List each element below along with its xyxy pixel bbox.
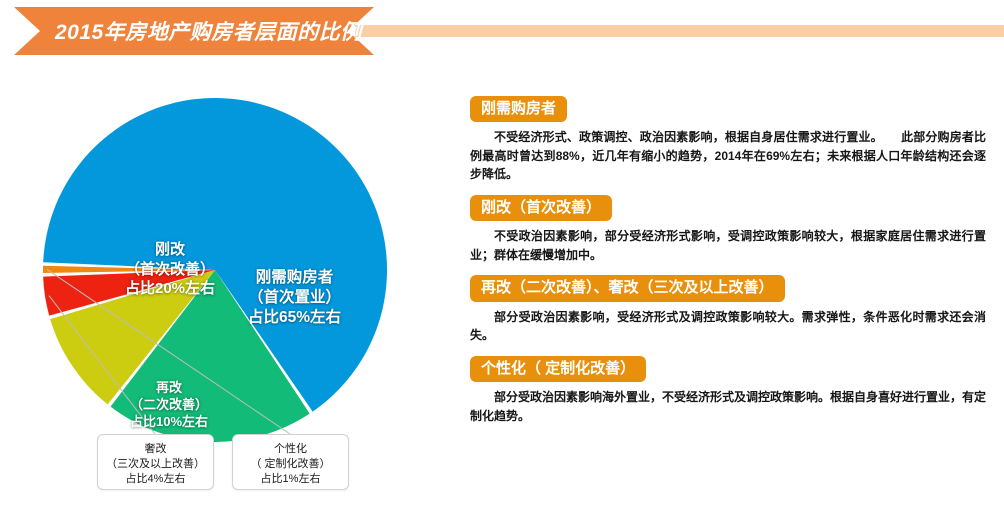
pie-slice-label-green-share: 占比20%左右 [125,279,215,299]
pie-slice-label-green: 刚改 （首次改善） 占比20%左右 [125,240,215,299]
pie-slice-label-green-sub: （首次改善） [125,260,215,280]
description-panel: 刚需购房者 不受经济形式、政策调控、政治因素影响，根据自身居住需求进行置业。 此… [470,96,990,436]
section-body-2: 部分受政治因素影响，受经济形式及调控政策影响较大。需求弹性，条件恶化时需求还会消… [470,308,986,345]
section-body-3: 部分受政治因素影响海外置业，不受经济形式及调控政策影响。根据自身喜好进行置业，有… [470,388,986,425]
description-section-1: 刚改（首次改善） 不受政治因素影响，部分受经济形式影响，受调控政策影响较大，根据… [470,195,990,264]
pie-callout-orange-share: 占比1%左右 [239,472,342,487]
page-title: 2015年房地产购房者层面的比例 [55,7,355,55]
section-body-1: 不受政治因素影响，部分受经济形式影响，受调控政策影响较大，根据家庭居住需求进行置… [470,227,986,264]
description-section-0: 刚需购房者 不受经济形式、政策调控、政治因素影响，根据自身居住需求进行置业。 此… [470,96,990,184]
pie-slice-label-yellow-name: 再改 [130,380,208,397]
pie-slice-label-blue-share: 占比65%左右 [248,308,341,328]
pie-slice-label-yellow-share: 占比10%左右 [130,414,208,431]
description-section-3: 个性化（ 定制化改善） 部分受政治因素影响海外置业，不受经济形式及调控政策影响。… [470,356,990,425]
pie-slice-label-blue: 刚需购房者 （首次置业） 占比65%左右 [248,268,341,328]
header-banner: 2015年房地产购房者层面的比例 [0,0,1004,62]
pie-callout-orange: 个性化 （ 定制化改善） 占比1%左右 [232,434,349,490]
section-badge-3: 个性化（ 定制化改善） [470,356,646,382]
pie-slice-label-blue-sub: （首次置业） [248,288,341,308]
pie-callout-orange-sub: （ 定制化改善） [239,457,342,472]
pie-callout-red: 奢改 （三次及以上改善） 占比4%左右 [97,434,214,490]
section-body-0: 不受经济形式、政策调控、政治因素影响，根据自身居住需求进行置业。 此部分购房者比… [470,128,986,184]
description-section-2: 再改（二次改善）、奢改（三次及以上改善） 部分受政治因素影响，受经济形式及调控政… [470,275,990,344]
ribbon-tail-bar [355,25,1004,37]
pie-callout-orange-name: 个性化 [239,442,342,457]
section-badge-1: 刚改（首次改善） [470,195,612,221]
pie-chart: 刚需购房者 （首次置业） 占比65%左右 刚改 （首次改善） 占比20%左右 再… [20,70,460,520]
section-badge-0: 刚需购房者 [470,96,567,122]
pie-slice-label-yellow-sub: （二次改善） [130,397,208,414]
pie-callout-red-name: 奢改 [104,442,207,457]
pie-callout-red-sub: （三次及以上改善） [104,457,207,472]
pie-callout-red-share: 占比4%左右 [104,472,207,487]
pie-slice-label-blue-name: 刚需购房者 [248,268,341,288]
pie-slice-label-yellow: 再改 （二次改善） 占比10%左右 [130,380,208,431]
section-badge-2: 再改（二次改善）、奢改（三次及以上改善） [470,275,785,301]
pie-slice-label-green-name: 刚改 [125,240,215,260]
